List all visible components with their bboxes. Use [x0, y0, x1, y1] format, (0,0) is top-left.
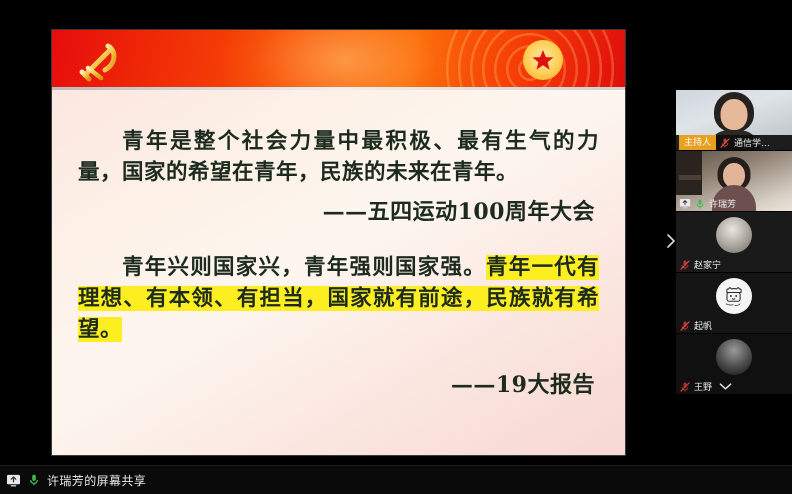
slide-paragraph-1: 青年是整个社会力量中最积极、最有生气的力量，国家的希望在青年，民族的未来在青年。 [78, 126, 599, 188]
avatar [716, 278, 752, 314]
avatar [716, 339, 752, 375]
participant-label-bar: 主持人 通信学… [676, 135, 792, 150]
status-bar-text: 许瑞芳的屏幕共享 [47, 472, 146, 489]
microphone-muted-icon[interactable] [679, 381, 691, 393]
microphone-icon[interactable] [694, 198, 706, 210]
banner-divider [52, 87, 625, 90]
slide-content: 青年是整个社会力量中最积极、最有生气的力量，国家的希望在青年，民族的未来在青年。… [52, 126, 625, 399]
screen-share-area[interactable]: 青年是整个社会力量中最积极、最有生气的力量，国家的希望在青年，民族的未来在青年。… [0, 0, 660, 465]
avatar-image [716, 217, 752, 253]
microphone-muted-icon[interactable] [679, 320, 691, 332]
video-background-detail [679, 175, 701, 180]
participant-sidebar[interactable]: 主持人 通信学… [676, 0, 792, 465]
paragraph-1-text: 青年是整个社会力量中最积极、最有生气的力量，国家的希望在青年，民族的未来在青年。 [78, 129, 599, 185]
participant-tile[interactable]: 主持人 通信学… [676, 90, 792, 150]
participant-tile[interactable]: 许瑞芳 [676, 151, 792, 211]
participant-name: 起帆 [694, 319, 712, 332]
status-bar: 许瑞芳的屏幕共享 [0, 465, 792, 494]
presentation-slide: 青年是整个社会力量中最积极、最有生气的力量，国家的希望在青年，民族的未来在青年。… [52, 30, 625, 455]
slide-banner [52, 30, 625, 90]
avatar [716, 217, 752, 253]
participant-tile[interactable]: 起帆 [676, 273, 792, 333]
participant-label-bar: 起帆 [676, 318, 792, 333]
microphone-icon[interactable] [27, 473, 41, 487]
avatar-image [716, 339, 752, 375]
participant-label-bar: 许瑞芳 [676, 196, 792, 211]
avatar-face [721, 99, 748, 130]
hammer-and-sickle-icon [74, 36, 122, 84]
slide-attribution-1: ——五四运动100周年大会 [78, 194, 599, 226]
status-badge: 主持人 [679, 135, 716, 150]
participant-name: 通信学… [734, 136, 770, 149]
participant-label-bar: 赵家宁 [676, 257, 792, 272]
chevron-down-icon[interactable] [719, 382, 732, 391]
slide-paragraph-2: 青年兴则国家兴，青年强则国家强。青年一代有理想、有本领、有担当，国家就有前途，民… [78, 252, 599, 345]
participant-name: 赵家宁 [694, 258, 721, 271]
participant-tile[interactable]: 王野 [676, 334, 792, 394]
participant-label-bar: 王野 [676, 379, 792, 394]
microphone-muted-icon[interactable] [679, 259, 691, 271]
participant-name: 许瑞芳 [709, 197, 736, 210]
paragraph-2-plain-text: 青年兴则国家兴，青年强则国家强。 [78, 255, 486, 280]
screen-share-icon[interactable] [6, 474, 21, 487]
banner-glow [224, 30, 464, 90]
slide-attribution-2: ——19大报告 [78, 367, 599, 399]
video-background [676, 151, 702, 195]
microphone-muted-icon[interactable] [719, 137, 731, 149]
conference-window: 青年是整个社会力量中最积极、最有生气的力量，国家的希望在青年，民族的未来在青年。… [0, 0, 792, 494]
participant-name: 王野 [694, 380, 712, 393]
screen-share-icon[interactable] [679, 198, 691, 209]
cat-avatar-icon [720, 282, 748, 310]
red-star-icon [523, 40, 563, 80]
participant-tile[interactable]: 赵家宁 [676, 212, 792, 272]
